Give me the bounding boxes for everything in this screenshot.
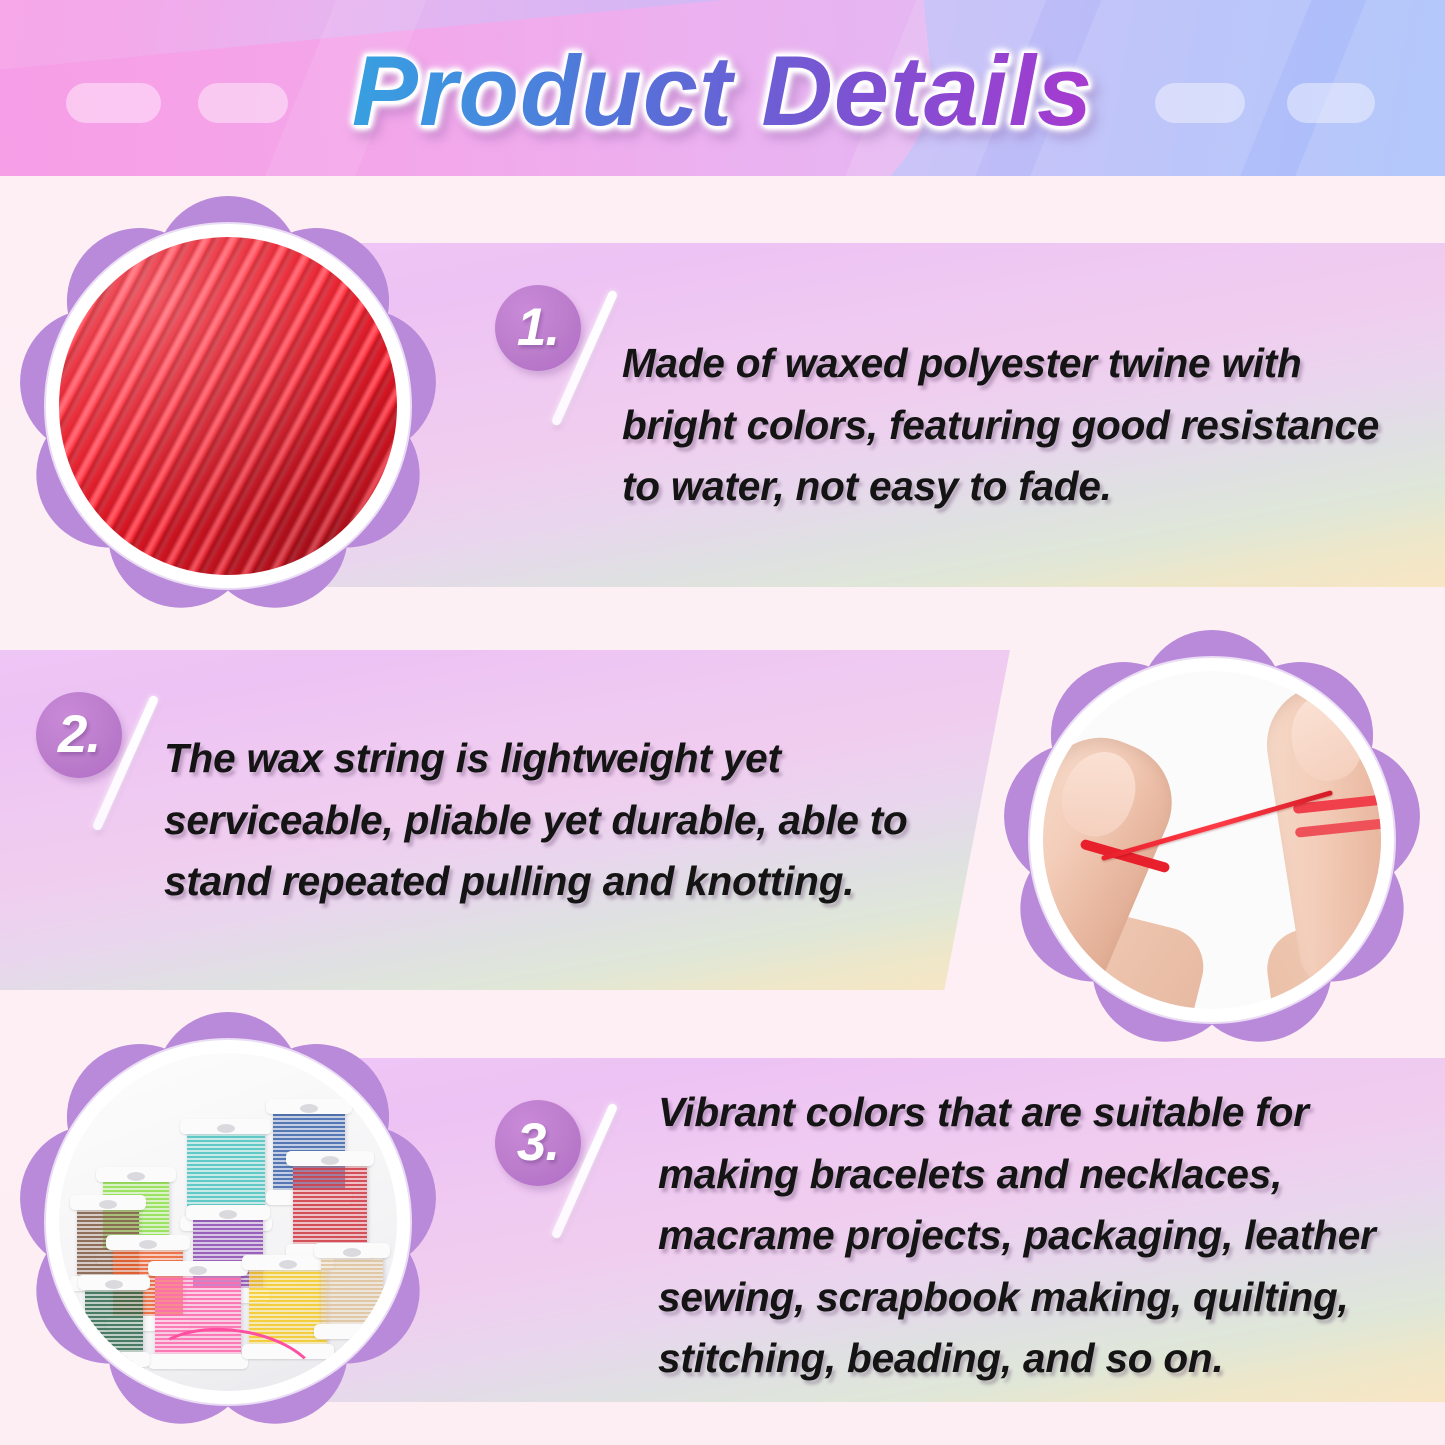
feature-number-label: 2. [36, 692, 122, 778]
page-title: Product Details [0, 38, 1445, 145]
feature-text-2: The wax string is lightweight yet servic… [164, 728, 954, 913]
feature-text-1: Made of waxed polyester twine with brigh… [622, 333, 1412, 518]
spools-photo [59, 1053, 397, 1391]
feature-number-badge-2: 2. [36, 692, 122, 778]
hands-string-photo [1043, 671, 1381, 1009]
red-twine-photo [59, 237, 397, 575]
product-details-infographic: Product Details 1. Made of waxed polyest… [0, 0, 1445, 1445]
feature-number-badge-1: 1. [495, 285, 581, 371]
feature-number-badge-3: 3. [495, 1100, 581, 1186]
thread-spool [85, 1281, 143, 1361]
feature-number-label: 3. [495, 1100, 581, 1186]
feature-image-2 [1002, 630, 1422, 1050]
header-banner: Product Details [0, 0, 1445, 176]
feature-text-3: Vibrant colors that are suitable for mak… [658, 1082, 1418, 1390]
feature-number-label: 1. [495, 285, 581, 371]
feature-image-1 [18, 196, 438, 616]
thread-spool [293, 1157, 367, 1253]
feature-image-3 [18, 1012, 438, 1432]
